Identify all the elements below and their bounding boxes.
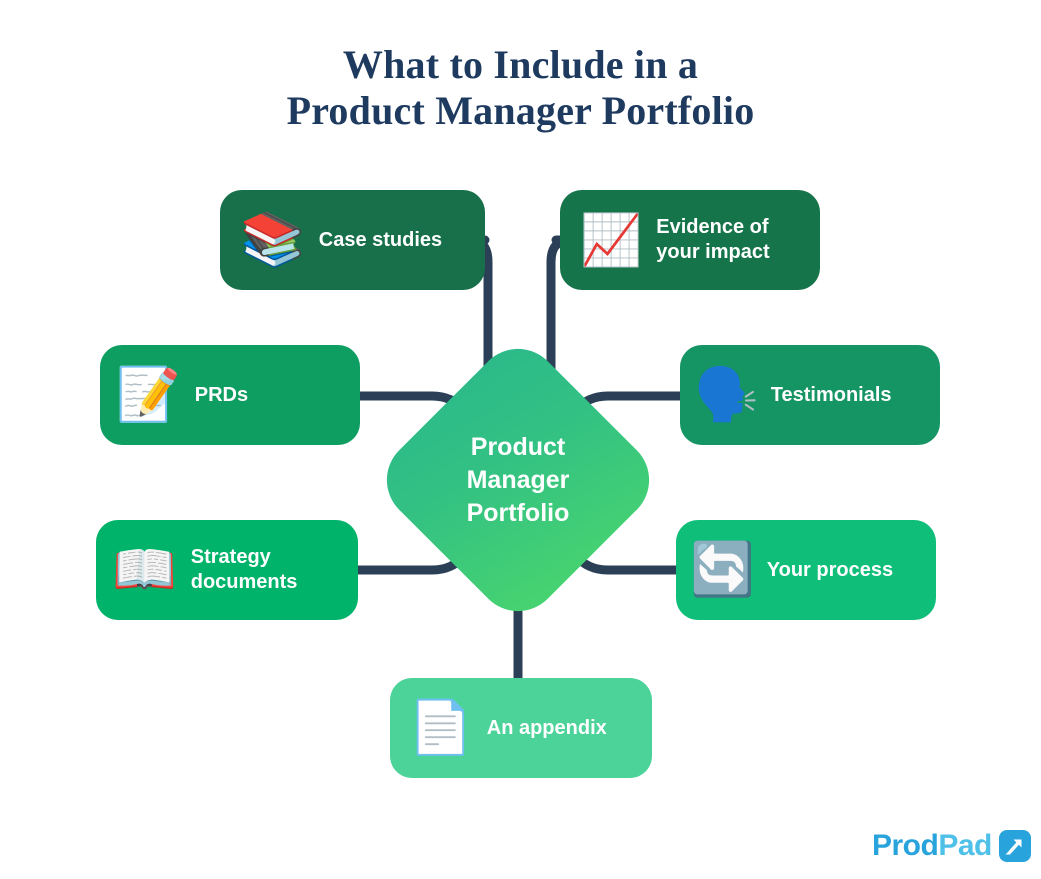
node-evidence-label: Evidence of your impact: [656, 215, 769, 265]
node-appendix-label: An appendix: [487, 716, 607, 741]
prodpad-word-primary: Prod: [872, 829, 938, 862]
memo-pencil-icon: 📝: [116, 369, 181, 421]
open-book-icon: 📖: [112, 544, 177, 596]
prodpad-logo[interactable]: ProdPad: [872, 826, 1031, 866]
node-prds-label: PRDs: [195, 383, 248, 408]
center-node-product-manager-portfolio[interactable]: Product Manager Portfolio: [413, 375, 623, 585]
center-node-label: Product Manager Portfolio: [413, 375, 623, 585]
center-label-line-2: Manager: [467, 464, 570, 497]
node-strategy-label: Strategy documents: [191, 545, 298, 595]
node-an-appendix[interactable]: 📄 An appendix: [390, 678, 652, 778]
node-testimonials[interactable]: 🗣️ Testimonials: [680, 345, 940, 445]
page-with-curl-icon: 📄: [408, 702, 473, 754]
chart-increasing-icon: 📈: [580, 215, 642, 265]
node-testimonials-label: Testimonials: [771, 383, 892, 408]
node-case-studies-label: Case studies: [319, 228, 442, 253]
node-prds[interactable]: 📝 PRDs: [100, 345, 360, 445]
books-icon: 📚: [240, 214, 305, 266]
node-evidence-of-your-impact[interactable]: 📈 Evidence of your impact: [560, 190, 820, 290]
prodpad-word-secondary: Pad: [938, 829, 992, 862]
center-label-line-1: Product: [471, 431, 565, 464]
portfolio-mindmap-diagram: 📚 Case studies 📈 Evidence of your impact…: [0, 0, 1041, 879]
arrows-counterclockwise-icon: 🔄: [690, 544, 755, 596]
node-case-studies[interactable]: 📚 Case studies: [220, 190, 485, 290]
center-label-line-3: Portfolio: [467, 497, 570, 530]
node-strategy-documents[interactable]: 📖 Strategy documents: [96, 520, 358, 620]
speaking-head-icon: 🗣️: [694, 369, 759, 421]
prodpad-arrow-mark-icon: [999, 830, 1031, 862]
prodpad-wordmark: ProdPad: [872, 831, 992, 861]
node-your-process-label: Your process: [767, 558, 893, 583]
node-your-process[interactable]: 🔄 Your process: [676, 520, 936, 620]
